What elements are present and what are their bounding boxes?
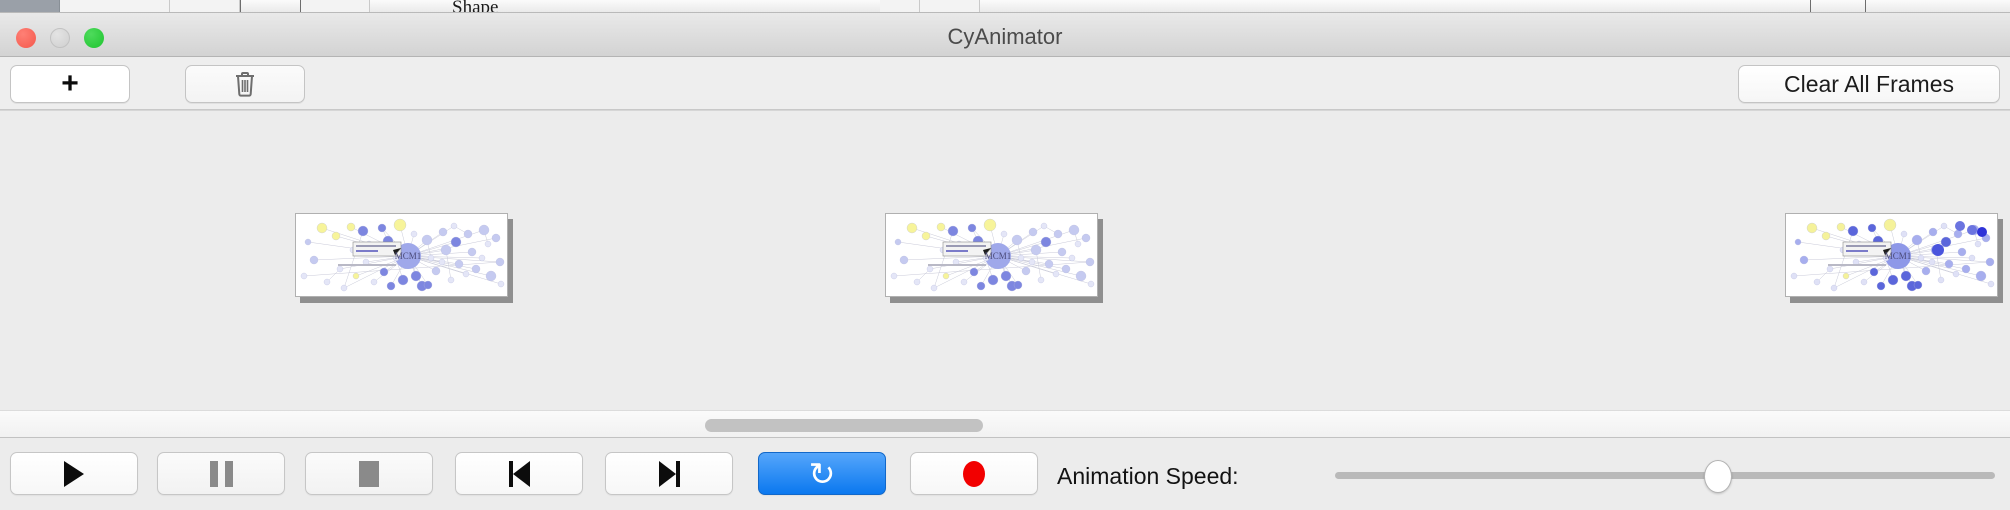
record-icon — [963, 461, 985, 487]
animation-speed-label: Animation Speed: — [1057, 463, 1239, 490]
toolbar: + Clear All Frames — [0, 57, 2010, 110]
timeline-scrollbar[interactable] — [0, 410, 2010, 438]
bg-tick — [300, 0, 301, 13]
loop-icon: ↻ — [809, 458, 836, 490]
bg-tick — [1865, 0, 1866, 13]
skip-forward-icon — [659, 461, 680, 487]
svg-text:MCM1: MCM1 — [395, 251, 422, 261]
network-snapshot: MCM1 — [1785, 213, 1998, 297]
background-window-strip: Shape — [0, 0, 2010, 13]
bg-chip — [880, 0, 920, 13]
plus-icon: + — [61, 69, 79, 99]
pause-icon — [210, 461, 233, 487]
transport-bar: ↻ Animation Speed: — [0, 439, 2010, 510]
stop-button[interactable] — [305, 452, 433, 495]
scrollbar-thumb[interactable] — [705, 419, 983, 432]
delete-frame-button[interactable] — [185, 65, 305, 103]
bg-chip — [300, 0, 370, 13]
panel-divider — [0, 110, 2010, 111]
animation-speed-slider-thumb[interactable] — [1704, 460, 1732, 493]
skip-end-button[interactable] — [605, 452, 733, 495]
add-frame-button[interactable]: + — [10, 65, 130, 103]
clear-all-frames-label: Clear All Frames — [1784, 71, 1954, 98]
bg-chip — [0, 0, 60, 13]
timeline-frame-thumbnail[interactable]: MCM1 — [295, 213, 513, 303]
bg-tick — [240, 0, 241, 13]
stop-icon — [359, 461, 379, 487]
timeline-frame-thumbnail[interactable]: MCM1 — [1785, 213, 2003, 303]
bg-chip — [170, 0, 240, 13]
network-snapshot: MCM1 — [295, 213, 508, 297]
svg-text:MCM1: MCM1 — [985, 251, 1012, 261]
window-title: CyAnimator — [0, 24, 2010, 50]
svg-text:MCM1: MCM1 — [1885, 251, 1912, 261]
trash-icon — [233, 70, 257, 98]
clear-all-frames-button[interactable]: Clear All Frames — [1738, 65, 2000, 103]
timeline-frame-thumbnail[interactable]: MCM1 — [885, 213, 1103, 303]
skip-start-button[interactable] — [455, 452, 583, 495]
network-snapshot: MCM1 — [885, 213, 1098, 297]
record-button[interactable] — [910, 452, 1038, 495]
animation-speed-slider[interactable] — [1335, 472, 1995, 479]
bg-chip — [920, 0, 980, 13]
title-bar: CyAnimator — [0, 13, 2010, 57]
skip-back-icon — [509, 461, 530, 487]
bg-chip — [60, 0, 170, 13]
loop-button[interactable]: ↻ — [758, 452, 886, 495]
timeline-panel[interactable]: MCM1 MCM1 MCM1 12131415161718 Seconds — [0, 110, 2010, 410]
play-icon — [64, 461, 84, 487]
pause-button[interactable] — [157, 452, 285, 495]
cyanimator-window: Shape CyAnimator + Clear All Frames — [0, 0, 2010, 510]
background-window-label: Shape — [452, 0, 498, 13]
play-button[interactable] — [10, 452, 138, 495]
bg-tick — [1810, 0, 1811, 13]
